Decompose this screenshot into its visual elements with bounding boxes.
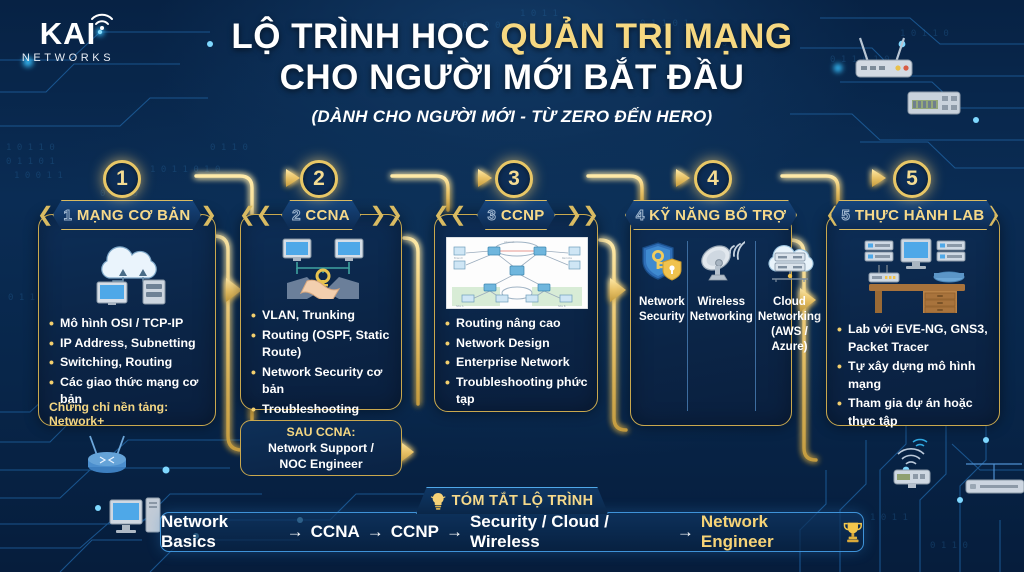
summary-path-bar: Network Basics → CCNA → CCNP → Security … xyxy=(160,512,864,552)
infographic-canvas: 1 0 1 1 00 1 1 0 1 1 0 0 1 10 1 1 0 1 0 … xyxy=(0,0,1024,572)
step-card-4[interactable]: ❮❮ ❯❯ 4 KỸ NĂNG BỔ TRỢ Network Security xyxy=(630,214,792,426)
wifi-icon xyxy=(90,13,116,31)
step-card-3-banner: 3 CCNP xyxy=(476,200,555,230)
title-subtitle: (DÀNH CHO NGƯỜI MỚI - TỪ ZERO ĐẾN HERO) xyxy=(200,107,824,127)
server-icon-bottom-right xyxy=(966,464,1024,493)
step-card-5[interactable]: ❮❮ ❯❯ 5 THỰC HÀNH LAB xyxy=(826,214,1000,426)
brand-subtitle: NETWORKS xyxy=(14,52,122,64)
banner-chevron-right-2: ❯❯ xyxy=(369,201,403,229)
svg-text:Branch: Branch xyxy=(454,256,464,260)
network-topology-diagram-icon: InternetBranchRemote Site ASite B xyxy=(446,237,588,309)
svg-text:1 0 1 1 0: 1 0 1 1 0 xyxy=(6,143,55,153)
trophy-icon xyxy=(843,520,863,544)
svg-text:1 0 1 1 0 1 0: 1 0 1 1 0 1 0 xyxy=(150,165,220,175)
step-badge-2: 2 xyxy=(300,160,338,198)
lightbulb-icon xyxy=(431,492,446,511)
skill-columns: Network Security Wireless Ne xyxy=(637,241,785,411)
subbox-title: SAU CCNA: xyxy=(268,424,374,440)
wifi-router-icon-bottom-right xyxy=(894,449,930,488)
step-card-5-bullets: Lab với EVE-NG, GNS3, Packet Tracer Tự x… xyxy=(837,321,991,433)
list-item: Switching, Routing xyxy=(49,354,207,372)
step-badge-3: 3 xyxy=(495,160,533,198)
svg-text:Site A: Site A xyxy=(456,304,464,308)
summary-step-1: Network Basics xyxy=(161,512,280,552)
summary-step-3: CCNP xyxy=(391,522,439,542)
title-line-2: CHO NGƯỜI MỚI BẮT ĐẦU xyxy=(200,57,824,98)
summary-arrow-3: → xyxy=(446,522,463,542)
skill-label-2a: Wireless xyxy=(690,294,753,309)
router-icon-bottom-left xyxy=(88,436,126,473)
desktop-pc-icon-bottom-left xyxy=(110,498,160,533)
cloud-server-icon xyxy=(764,241,814,283)
step-card-1-banner-num: 1 xyxy=(64,207,72,224)
svg-text:Remote: Remote xyxy=(562,256,572,260)
skill-label-3d: Azure) xyxy=(758,339,821,354)
svg-text:0 1 1 0: 0 1 1 0 xyxy=(930,541,968,551)
list-item: IP Address, Subnetting xyxy=(49,335,207,353)
step-card-2-banner-num: 2 xyxy=(292,207,300,224)
step-badge-1: 1 xyxy=(103,160,141,198)
step-card-1-note: Chứng chỉ nền tảng: Network+ xyxy=(49,400,215,428)
step-card-4-banner-num: 4 xyxy=(636,207,644,224)
step-badge-4: 4 xyxy=(694,160,732,198)
list-item: Mô hình OSI / TCP-IP xyxy=(49,315,207,333)
skill-column-cloud-networking[interactable]: Cloud Networking (AWS / Azure) xyxy=(755,241,823,411)
banner-chevron-right-3: ❯❯ xyxy=(565,201,599,229)
subbox-line-1: Network Support / xyxy=(268,440,374,456)
step-card-5-banner: 5 THỰC HÀNH LAB xyxy=(830,200,995,230)
skill-label-3b: Networking xyxy=(758,309,821,324)
step-badge-5: 5 xyxy=(893,160,931,198)
step-card-3-banner-num: 3 xyxy=(487,207,495,224)
summary-tab: TÓM TẮT LỘ TRÌNH xyxy=(416,487,609,514)
list-item: Network Design xyxy=(445,335,589,353)
list-item: Lab với EVE-NG, GNS3, Packet Tracer xyxy=(837,321,991,356)
step-card-3-bullets: Routing nâng cao Network Design Enterpri… xyxy=(445,315,589,411)
satellite-dish-icon xyxy=(697,241,745,283)
svg-text:0 1 1 0 1: 0 1 1 0 1 xyxy=(6,157,55,167)
summary-step-2: CCNA xyxy=(311,522,360,542)
brand-logo: KAI NETWORKS xyxy=(14,18,122,64)
step-card-3-banner-title: CCNP xyxy=(501,207,545,224)
banner-chevron-left-2: ❮❮ xyxy=(239,201,273,229)
switch-icon-top xyxy=(908,92,960,114)
banner-chevron-left-3: ❮❮ xyxy=(433,201,467,229)
list-item: Tự xây dựng mô hình mạng xyxy=(837,358,991,393)
lab-desk-icon xyxy=(861,237,969,313)
list-item: Troubleshooting phức tạp xyxy=(445,374,589,409)
svg-text:1 0 1 1 0: 1 0 1 1 0 xyxy=(900,29,949,39)
wifi-icon-decor xyxy=(913,439,927,446)
title-line1-white: LỘ TRÌNH HỌC xyxy=(231,17,500,56)
shield-key-icon xyxy=(640,241,684,283)
list-item: Routing (OSPF, Static Route) xyxy=(251,327,393,362)
cloud-pc-server-icon xyxy=(85,239,177,305)
list-item: VLAN, Trunking xyxy=(251,307,393,325)
step-card-1-banner: 1 MẠNG CƠ BẢN xyxy=(53,200,202,230)
skill-label-1b: Security xyxy=(639,309,685,324)
skill-column-network-security[interactable]: Network Security xyxy=(637,241,687,411)
step-card-2-banner-title: CCNA xyxy=(305,207,350,224)
list-item: Enterprise Network xyxy=(445,354,589,372)
step-card-1[interactable]: ❮❮ ❯❯ 1 MẠNG CƠ BẢN Mô hình OSI / TCP-IP… xyxy=(38,214,216,426)
title-line-1: LỘ TRÌNH HỌC QUẢN TRỊ MẠNG xyxy=(200,16,824,57)
title-block: LỘ TRÌNH HỌC QUẢN TRỊ MẠNG CHO NGƯỜI MỚI… xyxy=(200,16,824,127)
step-card-1-banner-title: MẠNG CƠ BẢN xyxy=(77,207,191,224)
summary-arrow-1: → xyxy=(287,522,304,542)
svg-text:0 1 1 0: 0 1 1 0 xyxy=(210,143,248,153)
list-item: Tham gia dự án hoặc thực tập xyxy=(837,395,991,430)
summary-step-4: Security / Cloud / Wireless xyxy=(470,512,670,552)
skill-label-2b: Networking xyxy=(690,309,753,324)
svg-text:1 0 1 1: 1 0 1 1 xyxy=(870,513,908,523)
list-item: Network Security cơ bản xyxy=(251,364,393,399)
step-card-5-banner-title: THỰC HÀNH LAB xyxy=(855,207,985,224)
step-card-2-banner: 2 CCNA xyxy=(281,200,361,230)
step-card-4-banner-title: KỸ NĂNG BỔ TRỢ xyxy=(649,207,786,224)
summary-arrow-4: → xyxy=(677,522,694,542)
title-line1-gold: QUẢN TRỊ MẠNG xyxy=(500,17,792,56)
summary-tab-label: TÓM TẮT LỘ TRÌNH xyxy=(452,493,594,509)
summary-step-5: Network Engineer xyxy=(701,512,836,552)
step-card-2[interactable]: ❮❮ ❯❯ 2 CCNA VLAN, Trunking xyxy=(240,214,402,410)
handshake-key-icon xyxy=(277,237,369,299)
subbox-line-2: NOC Engineer xyxy=(268,456,374,472)
summary-arrow-2: → xyxy=(367,522,384,542)
step-card-4-banner: 4 KỸ NĂNG BỔ TRỢ xyxy=(625,200,797,230)
skill-label-3c: (AWS / xyxy=(758,324,821,339)
step-card-2-subbox[interactable]: SAU CCNA: Network Support / NOC Engineer xyxy=(240,420,402,476)
step-card-3[interactable]: ❮❮ ❯❯ 3 CCNP xyxy=(434,214,598,412)
list-item: Routing nâng cao xyxy=(445,315,589,333)
step-card-2-bullets: VLAN, Trunking Routing (OSPF, Static Rou… xyxy=(251,307,393,438)
step-card-5-banner-num: 5 xyxy=(841,207,849,224)
svg-text:Internet: Internet xyxy=(504,240,514,244)
svg-text:1 0 0 1 1: 1 0 0 1 1 xyxy=(14,171,63,181)
skill-column-wireless-networking[interactable]: Wireless Networking xyxy=(687,241,755,411)
skill-label-3a: Cloud xyxy=(758,294,821,309)
svg-text:Site B: Site B xyxy=(558,304,566,308)
skill-label-1a: Network xyxy=(639,294,685,309)
step-card-1-bullets: Mô hình OSI / TCP-IP IP Address, Subnett… xyxy=(49,315,207,411)
